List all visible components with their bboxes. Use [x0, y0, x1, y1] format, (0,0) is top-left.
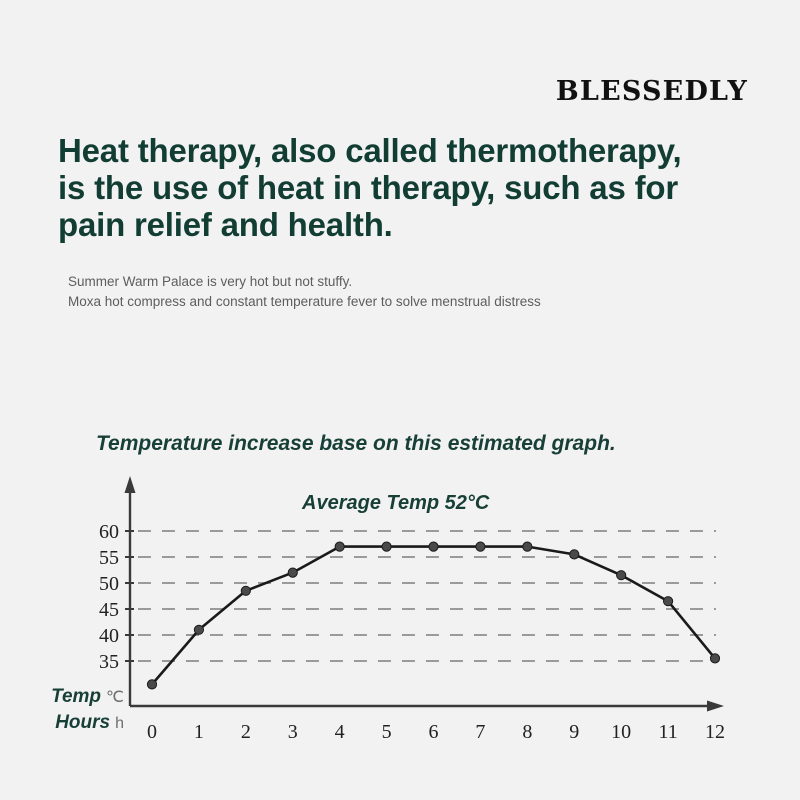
hours-axis-label: Hours	[55, 712, 110, 733]
data-point-marker	[570, 550, 579, 559]
x-axis-tick-label: 3	[288, 721, 298, 743]
hours-axis-unit: h	[115, 715, 124, 732]
temperature-chart: 354045505560 0123456789101112	[0, 0, 800, 800]
y-axis-tick-label: 60	[99, 521, 119, 543]
headline-line-3: pain relief and health.	[58, 206, 681, 243]
temp-axis-label-row: Temp℃	[24, 684, 124, 710]
x-axis-tick-label: 11	[658, 721, 677, 743]
x-axis-tick-labels: 0123456789101112	[147, 721, 725, 743]
y-axis-tick-label: 50	[99, 573, 119, 595]
data-point-marker	[241, 586, 250, 595]
subtitle-line-2: Moxa hot compress and constant temperatu…	[68, 292, 541, 312]
x-axis-tick-label: 9	[569, 721, 579, 743]
temp-axis-unit: ℃	[106, 689, 124, 706]
y-axis-arrowhead	[125, 476, 136, 493]
y-axis-ticks	[125, 531, 134, 661]
brand-wordmark: BLESSEDLY	[556, 76, 748, 107]
data-point-marker	[663, 597, 672, 606]
y-axis-tick-labels: 354045505560	[99, 521, 119, 673]
data-point-marker	[476, 542, 485, 551]
data-point-marker	[194, 625, 203, 634]
x-axis-tick-label: 7	[475, 721, 485, 743]
axis-name-block: Temp℃ Hoursh	[24, 684, 124, 736]
x-axis-tick-label: 10	[611, 721, 631, 743]
x-axis-tick-label: 6	[429, 721, 439, 743]
headline-line-2: is the use of heat in therapy, such as f…	[58, 169, 681, 206]
chart-gridlines	[138, 531, 716, 661]
subtitle: Summer Warm Palace is very hot but not s…	[68, 272, 541, 312]
data-point-marker	[335, 542, 344, 551]
chart-title: Temperature increase base on this estima…	[96, 432, 616, 456]
chart-average-annotation: Average Temp 52°C	[302, 492, 489, 515]
x-axis-tick-label: 2	[241, 721, 251, 743]
data-point-marker	[288, 568, 297, 577]
subtitle-line-1: Summer Warm Palace is very hot but not s…	[68, 272, 541, 292]
hours-axis-label-row: Hoursh	[24, 710, 124, 736]
x-axis-arrowhead	[707, 701, 724, 712]
temp-axis-label: Temp	[51, 686, 101, 707]
x-axis-tick-label: 8	[522, 721, 532, 743]
page-title: Heat therapy, also called thermotherapy,…	[58, 132, 681, 243]
x-axis-tick-label: 12	[705, 721, 725, 743]
headline-line-1: Heat therapy, also called thermotherapy,	[58, 132, 681, 169]
y-axis-tick-label: 55	[99, 547, 119, 569]
data-point-marker	[382, 542, 391, 551]
data-point-marker	[429, 542, 438, 551]
data-point-marker	[147, 680, 156, 689]
data-point-marker	[710, 654, 719, 663]
y-axis-tick-label: 35	[99, 651, 119, 673]
y-axis-tick-label: 45	[99, 599, 119, 621]
data-point-marker	[617, 571, 626, 580]
temperature-series-markers	[147, 542, 719, 689]
y-axis-tick-label: 40	[99, 625, 119, 647]
x-axis-tick-label: 0	[147, 721, 157, 743]
data-point-marker	[523, 542, 532, 551]
x-axis-tick-label: 5	[382, 721, 392, 743]
x-axis-tick-label: 1	[194, 721, 204, 743]
temperature-series-line	[152, 547, 715, 685]
x-axis-tick-label: 4	[335, 721, 345, 743]
